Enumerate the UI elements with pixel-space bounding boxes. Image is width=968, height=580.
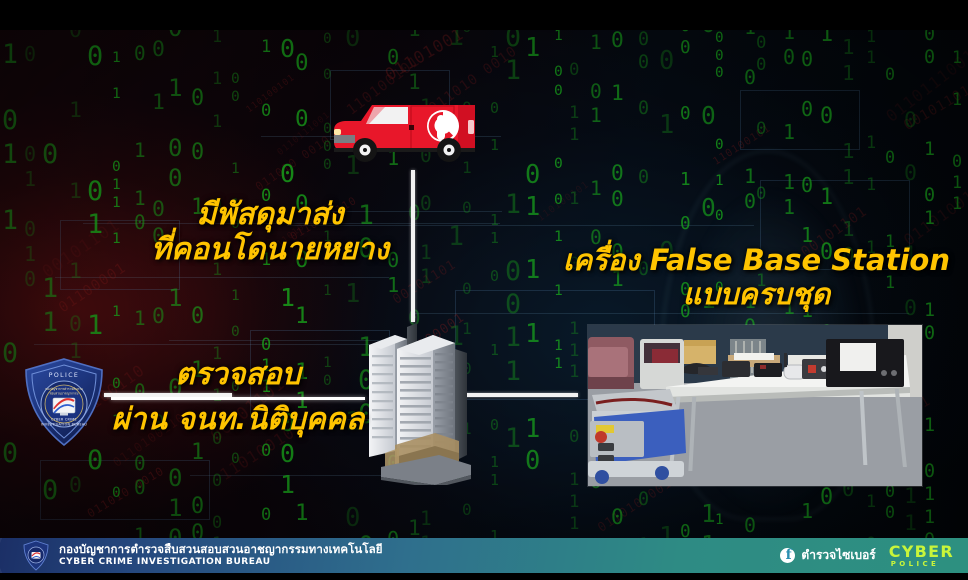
equipment-photo (588, 325, 922, 486)
bottom-letterbox-bar (0, 573, 968, 580)
badge-subtitle-line1: CYBER CRIME (51, 418, 77, 422)
footer-org-names: กองบัญชาการตำรวจสืบสวนสอบสวนอาชญากรรมทาง… (59, 542, 383, 568)
matrix-digit-column: 1 0 1 1 1 1 0 0 (525, 32, 540, 538)
callout-verify-divider (111, 397, 366, 400)
matrix-digit-column: 1 0 0 1 0 1 1 0 0 (261, 37, 271, 526)
matrix-digit-column: 0 0 1 1 0 1 0 0 0 1 (134, 30, 146, 538)
facebook-link[interactable]: ตำรวจไซเบอร์ (780, 546, 875, 565)
footer-org-th: กองบัญชาการตำรวจสืบสวนสอบสวนอาชญากรรมทาง… (59, 542, 383, 556)
facebook-label: ตำรวจไซเบอร์ (801, 546, 875, 565)
callout-equipment-line1: เครื่อง False Base Station (545, 244, 968, 278)
footer-bar: กองบัญชาการตำรวจสืบสวนสอบสวนอาชญากรรมทาง… (0, 538, 968, 573)
matrix-digit-column: 0 1 1 0 0 1 1 1 1 0 1 0 0 1 0 1 0 1 (505, 30, 521, 538)
matrix-digit-column: 0 0 0 0 1 1 1 1 1 0 1 (295, 49, 309, 538)
matrix-digit-column: 1 1 1 0 1 1 (952, 30, 962, 256)
svg-text:กองบัญชาการตำรวจสืบสวน: กองบัญชาการตำรวจสืบสวน (45, 386, 83, 391)
matrix-digit-column: 0 0 1 0 0 1 1 0 1 1 0 0 1 0 0 0 1 1 (280, 33, 295, 538)
cyber-police-logo-sub: POLICE (889, 561, 954, 568)
matrix-digit-column: 1 0 0 0 0 1 1 1 1 (554, 30, 563, 428)
callout-parcel-line2: ที่คอนโดนายหยาง (120, 233, 420, 268)
svg-text:สอบสวนอาชญากรรม: สอบสวนอาชญากรรม (50, 392, 79, 396)
matrix-digit-column: 1 0 1 1 0 0 0 0 1 1 0 1 0 0 0 (42, 30, 58, 538)
footer-right-group: ตำรวจไซเบอร์ CYBER POLICE (780, 544, 954, 568)
delivery-van (325, 88, 485, 173)
matrix-digit-column: 0 0 1 0 1 0 (24, 42, 36, 367)
facebook-icon (780, 548, 795, 563)
matrix-digit-column: 1 0 1 1 0 0 0 1 1 0 0 1 0 0 1 (2, 38, 18, 538)
callout-verify: ตรวจสอบ ผ่าน จนท.นิติบุคคล (90, 358, 386, 438)
callout-equipment-line2: แบบครบชุด (545, 278, 968, 312)
footer-badge-icon (22, 540, 50, 571)
matrix-digit-column: 1 1 1 1 0 1 1 1 0 0 0 1 0 1 0 (212, 30, 222, 538)
poster-canvas: 00101101011010 0010110100101011000010110… (0, 0, 968, 580)
cyber-police-logo-main: CYBER (889, 544, 954, 560)
matrix-digit-column: 0 1 0 0 1 0 0 1 0 1 0 0 0 0 0 0 1 1 (168, 30, 182, 538)
matrix-digit-column: 0 0 1 1 0 0 1 0 1 1 0 0 1 1 0 0 (87, 40, 103, 538)
background-code-text: 110100101 (536, 179, 592, 224)
matrix-digit-column: 1 1 0 1 1 1 1 0 1 0 0 1 0 1 0 1 0 1 1 1 (112, 49, 121, 538)
callout-parcel-line1: มีพัสดุมาส่ง (120, 198, 420, 233)
badge-subtitle-line2: INVESTIGATION BUREAU (41, 423, 88, 427)
cyber-police-logo: CYBER POLICE (889, 544, 954, 568)
matrix-digit-column: 1 0 0 1 0 1 1 0 0 0 0 1 (191, 30, 204, 538)
callout-equipment: เครื่อง False Base Station แบบครบชุด (545, 244, 968, 311)
callout-parcel: มีพัสดุมาส่ง ที่คอนโดนายหยาง (120, 198, 420, 268)
matrix-digit-column: 0 1 1 1 0 1 1 0 1 1 0 0 1 0 0 0 1 0 1 (69, 30, 82, 538)
badge-police-text: POLICE (49, 372, 80, 379)
footer-org-en: CYBER CRIME INVESTIGATION BUREAU (59, 557, 383, 569)
matrix-digit-column: 1 0 1 1 1 0 1 0 1 1 1 (490, 43, 499, 538)
top-letterbox-bar (0, 0, 968, 30)
callout-verify-line2: ผ่าน จนท.นิติบุคคล (90, 403, 386, 438)
callout-verify-line1: ตรวจสอบ (90, 358, 386, 393)
